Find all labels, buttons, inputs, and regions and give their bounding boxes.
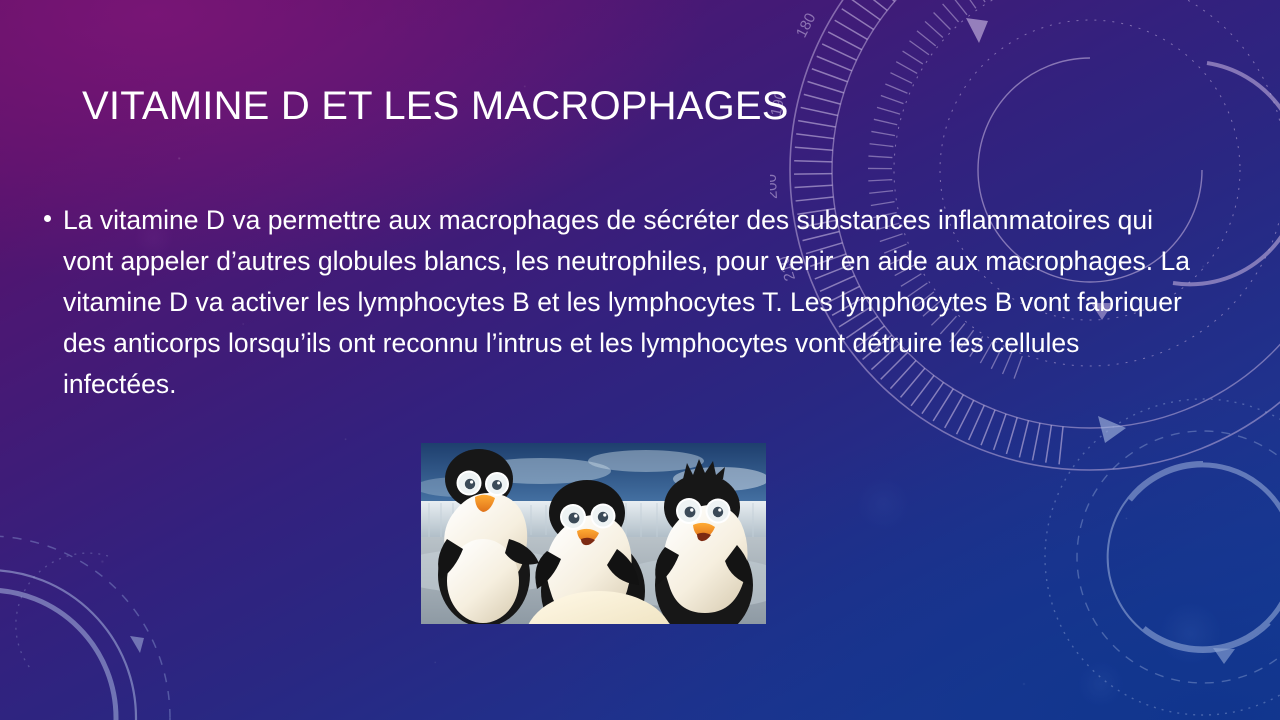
penguins-picture — [421, 443, 766, 624]
body-paragraph: La vitamine D va permettre aux macrophag… — [63, 200, 1196, 405]
slide-body-placeholder: La vitamine D va permettre aux macrophag… — [44, 200, 1196, 405]
slide-title: VITAMINE D ET LES MACROPHAGES — [82, 84, 1172, 129]
bullet-list-item: La vitamine D va permettre aux macrophag… — [44, 200, 1196, 405]
bullet-dot-icon — [44, 215, 51, 222]
presentation-slide: 150160170180190200210 — [0, 0, 1280, 720]
